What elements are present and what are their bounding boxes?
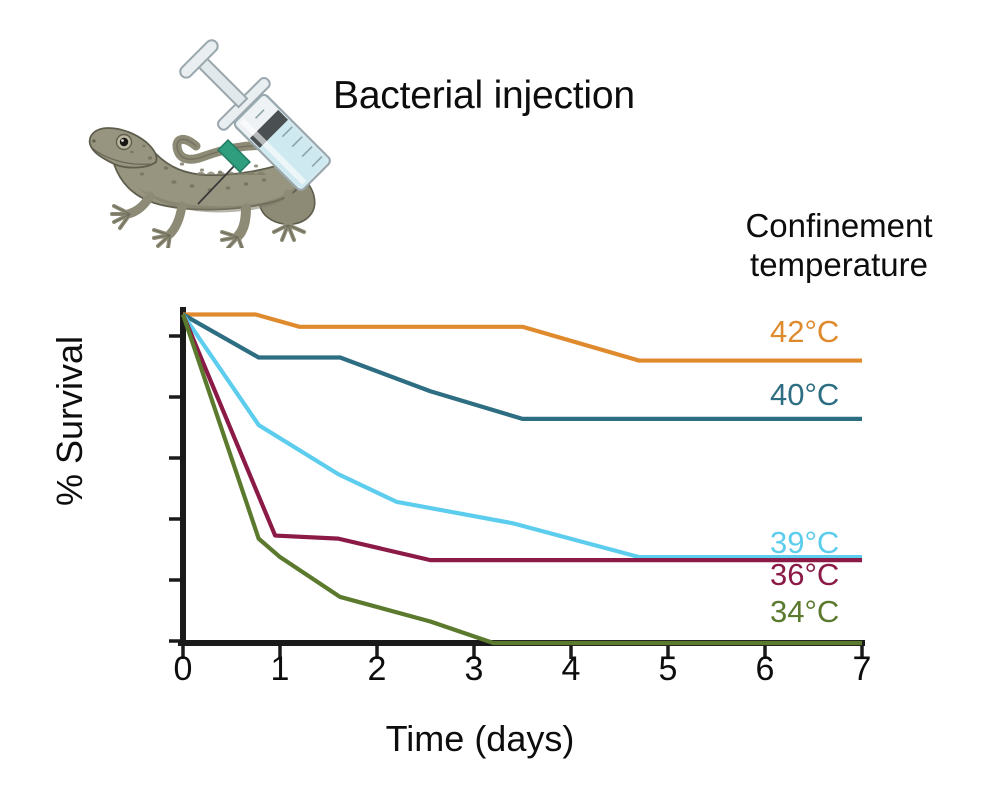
- series-label-39c: 39°C: [770, 527, 839, 558]
- x-tick-label: 4: [562, 652, 581, 686]
- x-tick-label: 7: [853, 652, 872, 686]
- series-label-40c: 40°C: [770, 379, 839, 410]
- x-tick-label: 2: [368, 652, 387, 686]
- x-tick-label: 6: [756, 652, 775, 686]
- figure-root: Bacterial injection Confinement temperat…: [0, 0, 988, 788]
- series-label-34c: 34°C: [770, 596, 839, 627]
- x-tick-label: 1: [271, 652, 290, 686]
- x-tick-label: 3: [465, 652, 484, 686]
- x-tick-label: 5: [659, 652, 678, 686]
- series-label-36c: 36°C: [770, 559, 839, 590]
- series-label-42c: 42°C: [770, 316, 839, 347]
- x-tick-label: 0: [174, 652, 193, 686]
- x-tick-labels: 0 1 2 3 4 5 6 7: [0, 0, 988, 788]
- y-axis-label: % Survival: [49, 291, 91, 551]
- x-axis-label: Time (days): [240, 718, 720, 760]
